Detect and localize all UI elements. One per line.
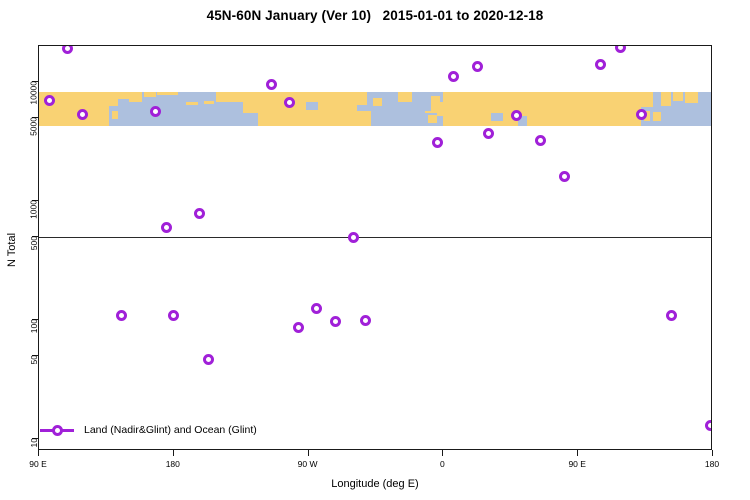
x-tick	[442, 450, 443, 456]
data-point	[311, 303, 322, 314]
y-tick-label: 100	[30, 319, 39, 333]
land-siberia-east	[641, 92, 653, 107]
land-hokkaido	[112, 111, 118, 119]
data-point	[705, 420, 712, 431]
data-point	[472, 61, 483, 72]
y-tick-label: 10000	[30, 81, 39, 105]
data-point	[284, 97, 295, 108]
data-point	[483, 128, 494, 139]
land-newfoundland-shelf	[357, 111, 372, 126]
plot-clip	[39, 46, 711, 449]
land-greenland-south	[373, 98, 382, 106]
reference-line	[39, 237, 711, 238]
data-point	[666, 310, 677, 321]
land-north-sea-coast	[437, 102, 443, 115]
x-tick-label: 90 E	[29, 459, 47, 469]
land-alaska	[216, 92, 243, 102]
legend-marker-icon	[52, 425, 63, 436]
data-point	[535, 135, 546, 146]
land-kamchatka-peninsula	[129, 92, 142, 102]
legend-label: Land (Nadir&Glint) and Ocean (Glint)	[84, 424, 257, 436]
data-point	[168, 310, 179, 321]
land-kamchatka	[109, 92, 118, 106]
world-map-band	[39, 92, 711, 125]
x-axis-title: Longitude (deg E)	[0, 478, 750, 490]
chart-title: 45N-60N January (Ver 10) 2015-01-01 to 2…	[0, 8, 750, 23]
data-point	[330, 316, 341, 327]
x-tick	[577, 450, 578, 456]
chart-root: 45N-60N January (Ver 10) 2015-01-01 to 2…	[0, 0, 750, 500]
data-point	[293, 322, 304, 333]
y-tick-label: 1000	[30, 200, 39, 219]
x-tick-label: 180	[166, 459, 180, 469]
ocean-great-lakes	[306, 102, 318, 109]
data-point	[161, 222, 172, 233]
land-korea	[97, 113, 103, 121]
data-point	[615, 46, 626, 53]
data-point	[203, 354, 214, 365]
land-kamchatka-north-wrapped	[673, 92, 683, 101]
ocean-black-sea	[491, 113, 503, 121]
land-siberia-coast	[144, 92, 156, 97]
x-tick	[712, 450, 713, 456]
land-ireland-wales	[428, 115, 437, 123]
land-hokkaido-wrapped	[653, 112, 660, 121]
plot-area	[38, 45, 712, 450]
data-point	[432, 137, 443, 148]
x-tick-label: 180	[705, 459, 719, 469]
data-point	[62, 46, 73, 54]
land-kamchatka-wrapped	[661, 92, 671, 105]
land-alaska-canada	[243, 92, 258, 113]
legend: Land (Nadir&Glint) and Ocean (Glint)	[40, 424, 257, 436]
y-tick-label: 500	[30, 236, 39, 250]
land-kamchatka-north	[118, 92, 128, 99]
data-point	[266, 79, 277, 90]
land-bering	[157, 92, 178, 95]
data-point	[360, 315, 371, 326]
x-tick	[38, 450, 39, 456]
land-aleutian-islands	[186, 102, 198, 105]
data-point	[636, 109, 647, 120]
y-axis-title: N Total	[6, 233, 18, 267]
y-tick-label: 5000	[30, 117, 39, 136]
data-point	[448, 71, 459, 82]
data-point	[559, 171, 570, 182]
x-tick	[308, 450, 309, 456]
x-tick-label: 0	[440, 459, 445, 469]
data-point	[116, 310, 127, 321]
ocean-norwegian-sea	[419, 92, 431, 110]
x-tick-label: 90 E	[568, 459, 586, 469]
legend-line	[40, 429, 74, 432]
x-tick	[173, 450, 174, 456]
y-tick-label: 10	[30, 438, 39, 447]
land-aleutian-islands-east	[204, 101, 214, 104]
data-point	[44, 95, 55, 106]
data-point	[595, 59, 606, 70]
land-labrador	[354, 92, 367, 105]
data-point	[348, 232, 359, 243]
data-point	[194, 208, 205, 219]
land-kamchatka-peninsula-wrapped	[685, 92, 698, 103]
land-iceland	[398, 92, 411, 102]
x-tick-label: 90 W	[298, 459, 318, 469]
y-tick-label: 50	[30, 355, 39, 364]
